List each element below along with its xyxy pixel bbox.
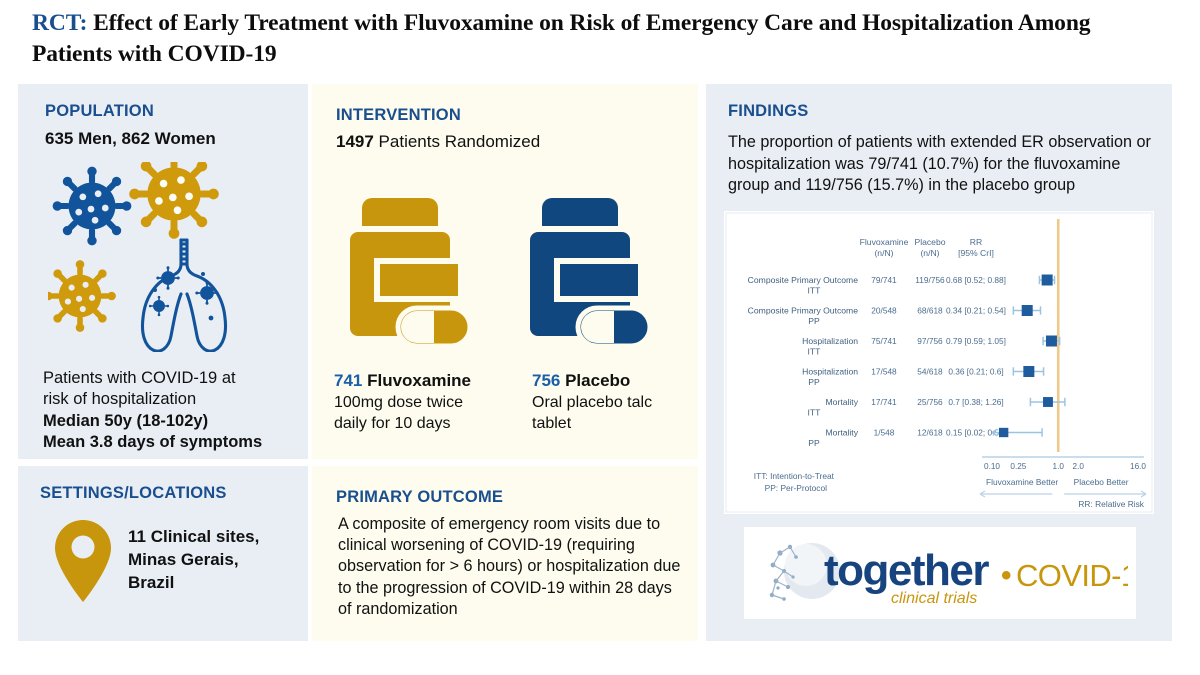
forest-plot: Fluvoxamine(n/N)Placebo(n/N)RR[95% CrI]C… <box>724 211 1154 514</box>
primary-outcome-heading: PRIMARY OUTCOME <box>336 488 503 507</box>
settings-line3: Brazil <box>128 572 259 595</box>
forest-footnote-itt: ITT: Intention-to-Treat <box>754 471 835 481</box>
arm-count: 741 <box>334 371 362 390</box>
arm-desc: Oral placebo talc tablet <box>532 393 682 435</box>
population-footer: Patients with COVID-19 at risk of hospit… <box>43 368 305 454</box>
forest-marker <box>1022 305 1033 316</box>
arm-name: Placebo <box>560 371 630 390</box>
forest-row-sublabel: ITT <box>808 347 822 357</box>
randomized-count-line: 1497 Patients Randomized <box>336 132 540 152</box>
page-title: RCT: Effect of Early Treatment with Fluv… <box>32 8 1172 68</box>
forest-row-placebo: 119/756 <box>915 275 945 285</box>
forest-marker <box>1023 366 1034 377</box>
virus-icon <box>111 162 238 257</box>
forest-footnote-pp: PP: Per-Protocol <box>765 483 828 493</box>
arm-desc-line1: Oral placebo talc <box>532 393 682 414</box>
forest-row-placebo: 68/618 <box>917 306 943 316</box>
forest-row-placebo: 97/756 <box>917 336 943 346</box>
settings-line1: 11 Clinical sites, <box>128 526 259 549</box>
forest-xtick: 0.10 <box>984 462 1000 471</box>
forest-marker <box>1046 336 1057 347</box>
forest-row-placebo: 25/756 <box>917 397 943 407</box>
col-header-rr: RR <box>970 237 982 247</box>
forest-row-label: Mortality <box>826 397 859 407</box>
primary-outcome-panel: PRIMARY OUTCOME A composite of emergency… <box>312 466 698 641</box>
findings-text: The proportion of patients with extended… <box>728 132 1164 197</box>
forest-row-label: Composite Primary Outcome <box>748 275 859 285</box>
population-footer-line3: Median 50y (18-102y) <box>43 411 305 432</box>
pill-bottle-icon <box>350 198 470 346</box>
forest-row-fluvoxamine: 17/548 <box>871 367 897 377</box>
forest-axis-caption: RR: Relative Risk <box>1078 499 1144 509</box>
randomized-count: 1497 <box>336 132 374 151</box>
arm-desc-line1: 100mg dose twice <box>334 393 484 414</box>
settings-line2: Minas Gerais, <box>128 549 259 572</box>
logo-suffix: COVID-19 <box>1016 558 1128 593</box>
forest-row-sublabel: PP <box>808 316 820 326</box>
forest-row-rr: 0.34 [0.21; 0.54] <box>946 306 1006 316</box>
settings-panel: SETTINGS/LOCATIONS 11 Clinical sites, Mi… <box>18 466 308 641</box>
forest-row-rr: 0.68 [0.52; 0.88] <box>946 275 1006 285</box>
forest-row-fluvoxamine: 17/741 <box>871 397 897 407</box>
forest-marker <box>999 428 1008 437</box>
intervention-artwork <box>334 192 678 357</box>
together-covid19-logo: together clinical trials • COVID-19 <box>758 535 1128 611</box>
logo-card: together clinical trials • COVID-19 <box>744 527 1136 619</box>
population-subtitle: 635 Men, 862 Women <box>45 129 216 149</box>
arm-placebo: 756 Placebo Oral placebo talc tablet <box>532 371 682 435</box>
logo-tagline: clinical trials <box>891 590 977 607</box>
arm-count: 756 <box>532 371 560 390</box>
population-footer-line4: Mean 3.8 days of symptoms <box>43 432 305 453</box>
forest-row-label: Mortality <box>826 428 859 438</box>
logo-word: together <box>824 546 989 595</box>
forest-xtick: 2.0 <box>1072 462 1084 471</box>
forest-row-rr: 0.7 [0.38; 1.26] <box>948 397 1003 407</box>
forest-row-fluvoxamine: 79/741 <box>871 275 897 285</box>
arm-name: Fluvoxamine <box>362 371 471 390</box>
forest-row-label: Composite Primary Outcome <box>748 306 859 316</box>
title-text: RCT: Effect of Early Treatment with Fluv… <box>32 8 1172 69</box>
intervention-heading: INTERVENTION <box>336 106 461 125</box>
arm-fluvoxamine: 741 Fluvoxamine 100mg dose twice daily f… <box>334 371 484 435</box>
population-artwork <box>48 162 288 352</box>
arm-title: 741 Fluvoxamine <box>334 371 484 391</box>
population-footer-line1: Patients with COVID-19 at <box>43 368 305 389</box>
intervention-arms: 741 Fluvoxamine 100mg dose twice daily f… <box>334 371 684 435</box>
population-panel: POPULATION 635 Men, 862 Women <box>18 84 308 459</box>
forest-row-rr: 0.79 [0.59; 1.05] <box>946 336 1006 346</box>
forest-plot-card: Fluvoxamine(n/N)Placebo(n/N)RR[95% CrI]C… <box>724 211 1154 514</box>
arm-desc-line2: daily for 10 days <box>334 414 484 435</box>
population-heading: POPULATION <box>45 102 154 121</box>
forest-row-sublabel: PP <box>808 438 820 448</box>
title-rest: Effect of Early Treatment with Fluvoxami… <box>32 10 1090 67</box>
forest-row-placebo: 12/618 <box>917 428 943 438</box>
findings-panel: FINDINGS The proportion of patients with… <box>706 84 1172 641</box>
randomized-label: Patients Randomized <box>374 132 540 151</box>
col-header-placebo-sub: (n/N) <box>920 248 939 258</box>
col-header-fluvoxamine: Fluvoxamine <box>860 237 909 247</box>
forest-row-rr: 0.36 [0.21; 0.6] <box>948 367 1003 377</box>
col-header-fluvoxamine-sub: (n/N) <box>874 248 893 258</box>
col-header-rr-sub: [95% CrI] <box>958 248 994 258</box>
col-header-placebo: Placebo <box>914 237 945 247</box>
forest-row-label: Hospitalization <box>802 336 858 346</box>
settings-heading: SETTINGS/LOCATIONS <box>40 484 227 503</box>
lungs-icon <box>142 240 225 351</box>
settings-body: 11 Clinical sites, Minas Gerais, Brazil <box>40 514 302 604</box>
logo-separator: • <box>1001 559 1012 592</box>
virus-icon <box>48 245 131 347</box>
primary-outcome-text: A composite of emergency room visits due… <box>338 514 688 620</box>
forest-xtick: 0.25 <box>1010 462 1026 471</box>
forest-row-sublabel: ITT <box>808 408 822 418</box>
title-prefix: RCT: <box>32 10 87 36</box>
arm-desc-line2: tablet <box>532 414 682 435</box>
virus-icon <box>48 162 148 262</box>
forest-row-placebo: 54/618 <box>917 367 943 377</box>
forest-right-better: Placebo Better <box>1074 477 1129 487</box>
arm-desc: 100mg dose twice daily for 10 days <box>334 393 484 435</box>
forest-row-sublabel: PP <box>808 377 820 387</box>
map-pin-icon <box>52 518 114 604</box>
forest-row-fluvoxamine: 75/741 <box>871 336 897 346</box>
settings-text: 11 Clinical sites, Minas Gerais, Brazil <box>128 514 259 594</box>
forest-row-sublabel: ITT <box>808 286 822 296</box>
intervention-panel: INTERVENTION 1497 Patients Randomized <box>312 84 698 459</box>
forest-row-label: Hospitalization <box>802 367 858 377</box>
pill-bottle-icon <box>530 198 650 346</box>
arm-title: 756 Placebo <box>532 371 682 391</box>
forest-row-fluvoxamine: 20/548 <box>871 306 897 316</box>
forest-marker <box>1042 275 1053 286</box>
forest-row-fluvoxamine: 1/548 <box>874 428 895 438</box>
findings-heading: FINDINGS <box>728 102 808 121</box>
forest-marker <box>1043 397 1053 407</box>
forest-left-better: Fluvoxamine Better <box>986 477 1058 487</box>
population-footer-line2: risk of hospitalization <box>43 389 305 410</box>
forest-xtick: 1.0 <box>1053 462 1065 471</box>
forest-xtick: 16.0 <box>1130 462 1146 471</box>
